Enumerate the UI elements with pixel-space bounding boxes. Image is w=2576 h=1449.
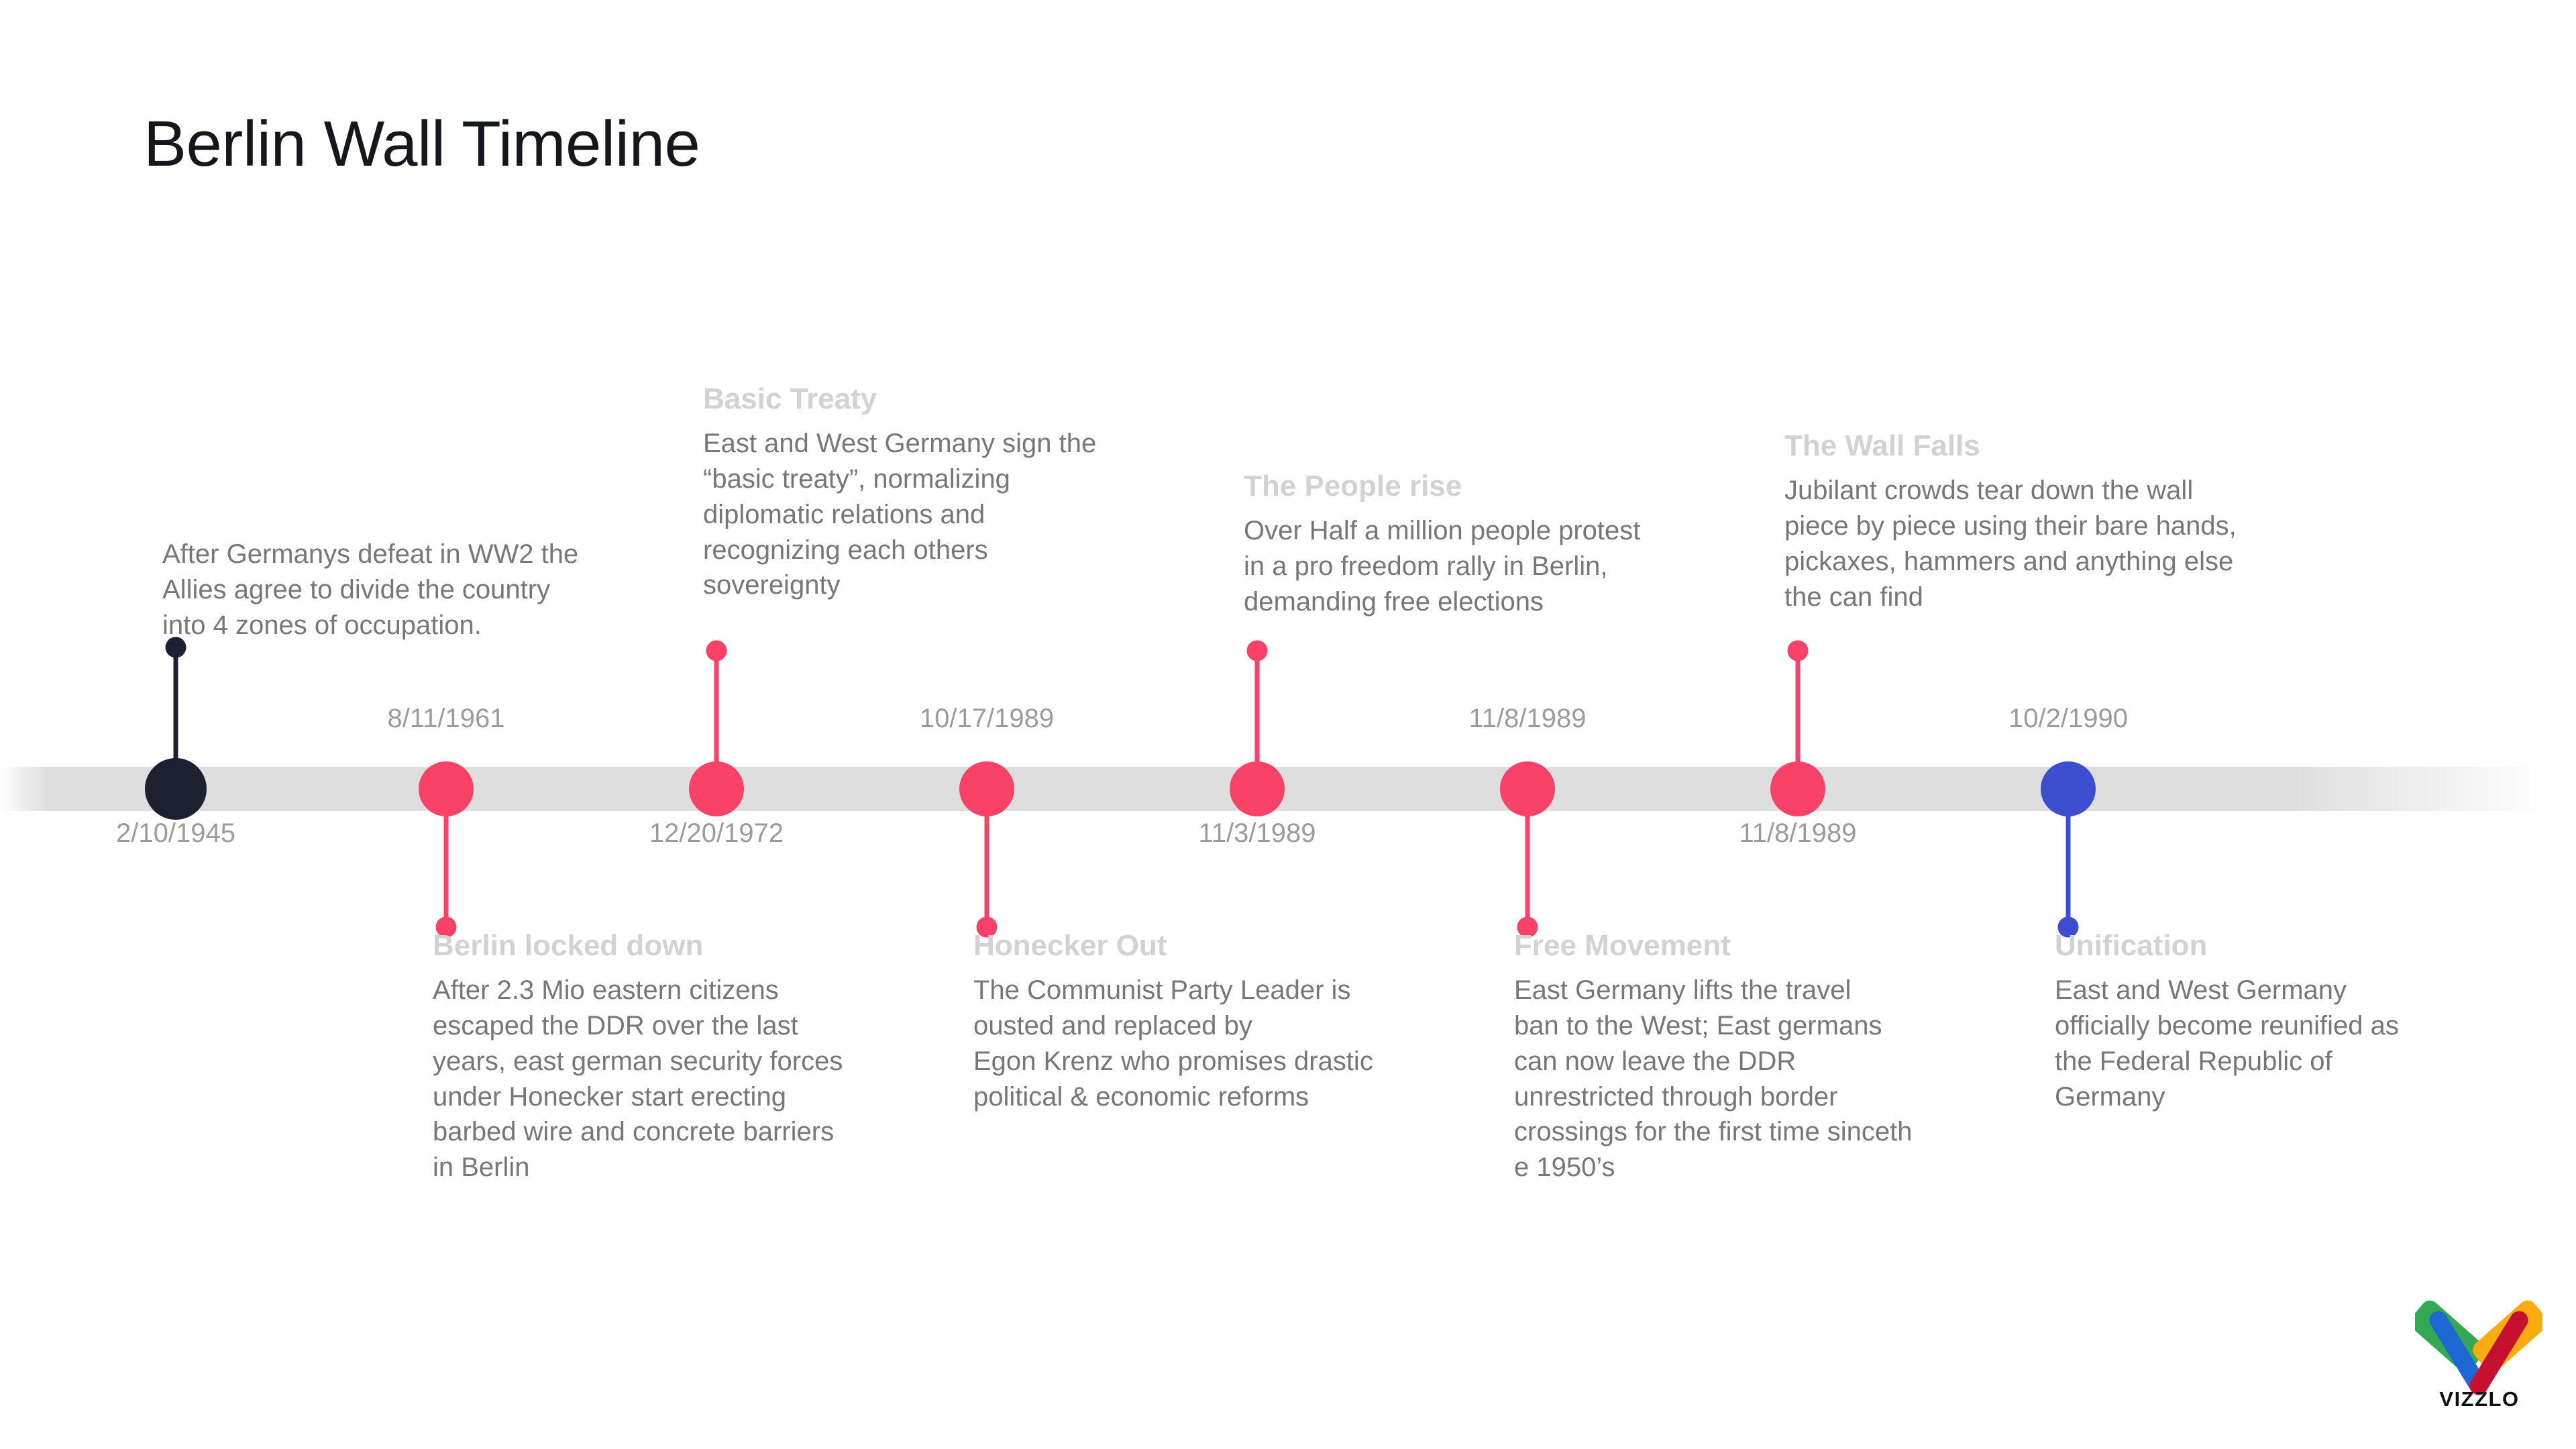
timeline-event-description: Jubilant crowds tear down the wall piece… <box>1784 473 2361 614</box>
timeline-event-title: The People rise <box>1244 470 1754 502</box>
timeline-event-text-block: The Wall FallsJubilant crowds tear down … <box>1784 429 2361 614</box>
timeline-event-stem <box>1525 789 1530 927</box>
timeline-date-label: 11/3/1989 <box>1199 818 1316 849</box>
timeline-event-description: East and West Germany officially become … <box>2055 973 2524 1114</box>
timeline-event-text-block: Honecker OutThe Communist Party Leader i… <box>973 929 1483 1114</box>
timeline-date-label: 11/8/1989 <box>1469 704 1587 734</box>
timeline-event-title: The Wall Falls <box>1784 429 2361 462</box>
timeline-event-stem <box>1255 651 1260 789</box>
timeline-event-text-block: Free MovementEast Germany lifts the trav… <box>1514 929 2044 1185</box>
timeline-event-title: Berlin locked down <box>433 929 943 962</box>
timeline-event-tip-dot <box>1788 641 1809 661</box>
timeline-event-stem <box>1796 651 1801 789</box>
timeline-event-text-block: UnificationEast and West Germany officia… <box>2055 929 2524 1114</box>
timeline-event-text-block: Basic TreatyEast and West Germany sign t… <box>703 382 1213 603</box>
timeline-event-stem <box>444 789 449 927</box>
timeline-event-text-block: The People riseOver Half a million peopl… <box>1244 470 1754 620</box>
timeline-axis-track <box>0 767 2576 811</box>
timeline-event-description: East Germany lifts the travel ban to the… <box>1514 973 2044 1185</box>
timeline-date-label: 12/20/1972 <box>649 818 784 849</box>
timeline-event-title: Free Movement <box>1514 929 2044 962</box>
timeline-date-label: 10/2/1990 <box>2008 704 2128 734</box>
timeline-event-title: Basic Treaty <box>703 382 1213 415</box>
timeline-date-label: 11/8/1989 <box>1739 818 1857 849</box>
vizzlo-wordmark: VIZZLO <box>2412 1387 2546 1411</box>
timeline-event-title: Unification <box>2055 929 2524 962</box>
timeline-event-description: After 2.3 Mio eastern citizens escaped t… <box>433 973 943 1185</box>
timeline-event-text-block: After Germanys defeat in WW2 the Allies … <box>162 537 672 643</box>
timeline-event-stem <box>714 651 719 789</box>
timeline-date-label: 8/11/1961 <box>388 704 505 734</box>
timeline-event-description: After Germanys defeat in WW2 the Allies … <box>162 537 672 643</box>
timeline-event-text-block: Berlin locked downAfter 2.3 Mio eastern … <box>433 929 943 1185</box>
timeline-event-stem <box>174 647 178 789</box>
timeline-event-description: Over Half a million people protest in a … <box>1244 513 1754 619</box>
timeline-date-label: 2/10/1945 <box>116 818 235 849</box>
timeline-event-tip-dot <box>1247 641 1268 661</box>
timeline-event-stem <box>985 789 989 927</box>
timeline-event-stem <box>2066 789 2071 927</box>
timeline-event-tip-dot <box>706 641 727 661</box>
page-title: Berlin Wall Timeline <box>144 107 700 181</box>
timeline-event-description: The Communist Party Leader is ousted and… <box>973 973 1483 1114</box>
timeline-event-description: East and West Germany sign the “basic tr… <box>703 426 1213 603</box>
timeline-date-label: 10/17/1989 <box>920 704 1054 734</box>
timeline-event-title: Honecker Out <box>973 929 1483 962</box>
